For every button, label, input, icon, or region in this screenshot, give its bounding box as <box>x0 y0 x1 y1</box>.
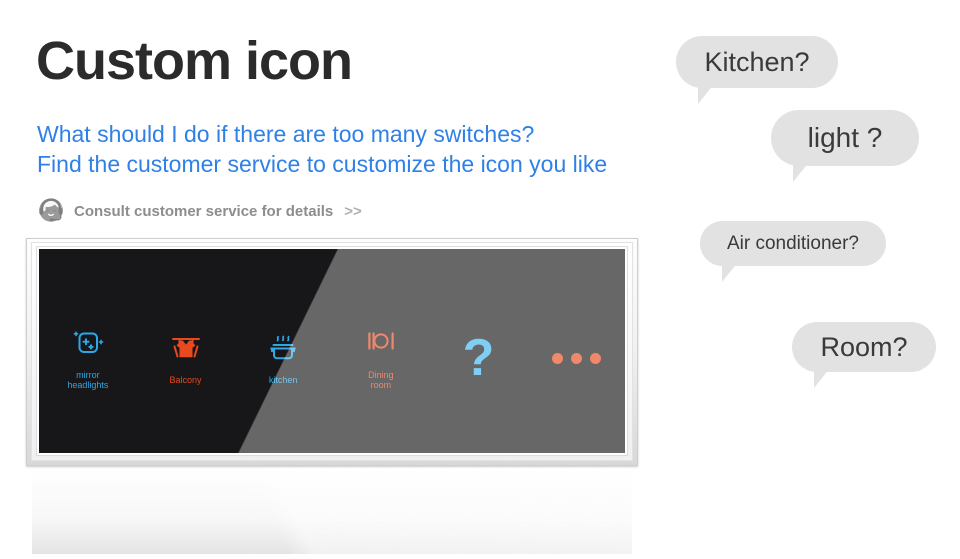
consult-customer-service-link[interactable]: Consult customer service for details >> <box>36 196 362 226</box>
switch-button-more[interactable] <box>527 249 625 453</box>
panel-screen: mirror headlights <box>39 249 625 453</box>
speech-bubble-text: Room? <box>820 332 907 363</box>
switch-label: Balcony <box>169 375 201 385</box>
ellipsis-dots-icon <box>552 353 601 364</box>
consult-arrow-icon: >> <box>344 203 362 220</box>
switch-panel: mirror headlights <box>26 238 638 466</box>
page-title: Custom icon <box>36 33 352 90</box>
subtitle-line-2: Find the customer service to customize t… <box>37 149 607 179</box>
switch-button-mirror-headlights[interactable]: mirror headlights <box>39 249 137 453</box>
switch-button-kitchen[interactable]: kitchen <box>234 249 332 453</box>
question-mark-icon: ? <box>463 332 495 384</box>
cooking-pot-icon <box>266 331 300 370</box>
switch-button-dining-room[interactable]: Dining room <box>332 249 430 453</box>
speech-bubble-tail <box>698 84 714 104</box>
hanging-shirt-icon <box>169 331 203 370</box>
page-subtitle: What should I do if there are too many s… <box>37 119 607 180</box>
switch-button-custom-slot[interactable]: ? <box>430 249 528 453</box>
speech-bubble-room: Room? <box>792 322 936 372</box>
customer-service-agent-icon <box>36 196 66 226</box>
speech-bubble-text: light ? <box>808 122 883 154</box>
speech-bubble-kitchen: Kitchen? <box>676 36 838 88</box>
switch-label: Dining room <box>368 370 394 391</box>
switch-button-row: mirror headlights <box>39 249 625 453</box>
dot <box>571 353 582 364</box>
dining-cutlery-icon <box>364 326 398 365</box>
speech-bubble-text: Air conditioner? <box>727 233 859 255</box>
speech-bubble-air-conditioner: Air conditioner? <box>700 221 886 266</box>
speech-bubble-text: Kitchen? <box>704 47 809 78</box>
speech-bubble-light: light ? <box>771 110 919 166</box>
speech-bubble-tail <box>814 368 830 388</box>
consult-label: Consult customer service for details <box>74 203 333 220</box>
dot <box>590 353 601 364</box>
switch-label: mirror headlights <box>67 370 108 391</box>
mirror-sparkle-icon <box>71 326 105 365</box>
switch-button-balcony[interactable]: Balcony <box>137 249 235 453</box>
slide-canvas: Custom icon What should I do if there ar… <box>0 0 960 559</box>
panel-reflection <box>32 468 632 554</box>
dot <box>552 353 563 364</box>
switch-label: kitchen <box>269 375 298 385</box>
speech-bubble-tail <box>793 162 809 182</box>
speech-bubble-tail <box>722 262 738 282</box>
subtitle-line-1: What should I do if there are too many s… <box>37 119 607 149</box>
